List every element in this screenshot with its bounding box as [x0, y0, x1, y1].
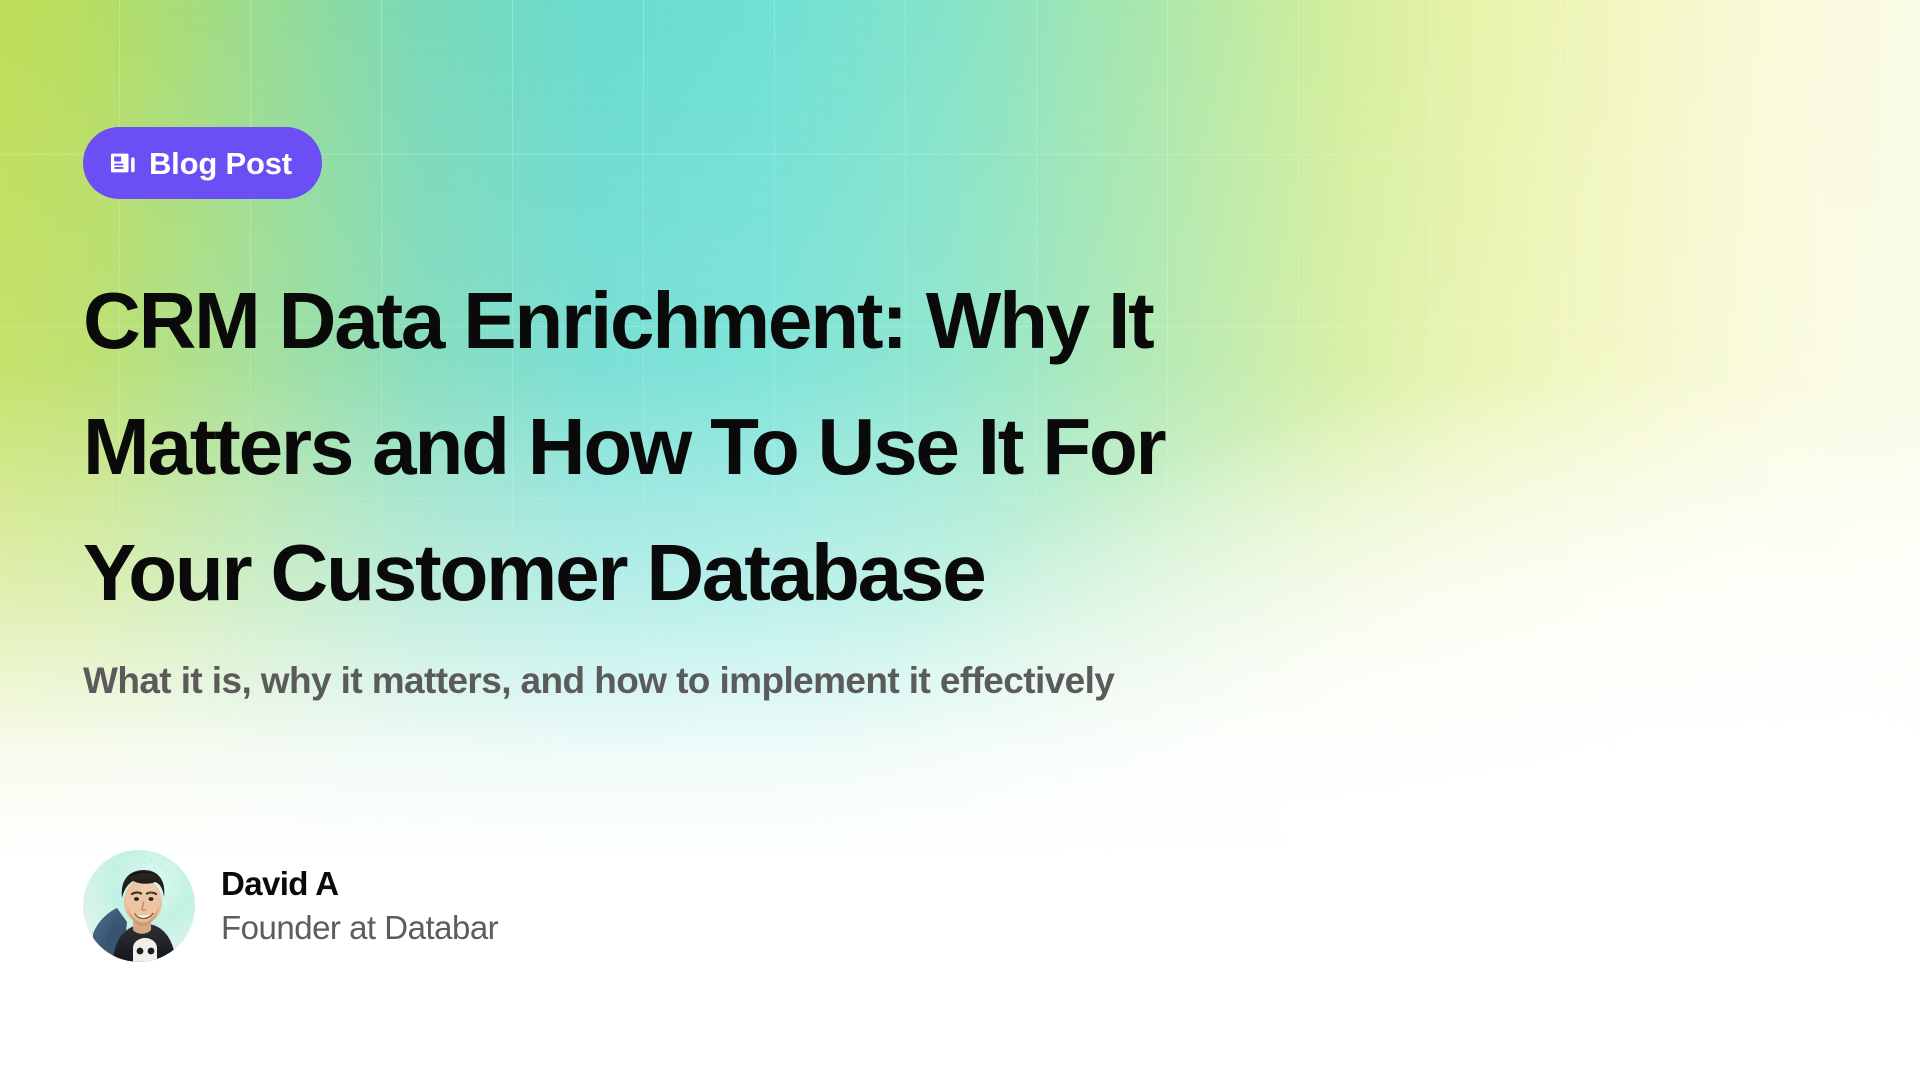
badge-label: Blog Post [149, 148, 292, 179]
page-title-line-2: Matters and How To Use It For [83, 384, 1413, 510]
page-title-line-1: CRM Data Enrichment: Why It [83, 258, 1413, 384]
author-role: Founder at Databar [221, 908, 498, 948]
author-name: David A [221, 864, 498, 904]
author-text: David A Founder at Databar [221, 864, 498, 948]
avatar [83, 850, 195, 962]
content-type-badge[interactable]: Blog Post [83, 127, 322, 199]
newspaper-icon [109, 149, 137, 177]
blog-post-hero-banner: Blog Post CRM Data Enrichment: Why It Ma… [0, 0, 1920, 1080]
page-subtitle: What it is, why it matters, and how to i… [83, 657, 1114, 705]
page-title-line-3: Your Customer Database [83, 510, 1413, 636]
page-title: CRM Data Enrichment: Why It Matters and … [83, 258, 1413, 636]
author-block: David A Founder at Databar [83, 850, 498, 962]
